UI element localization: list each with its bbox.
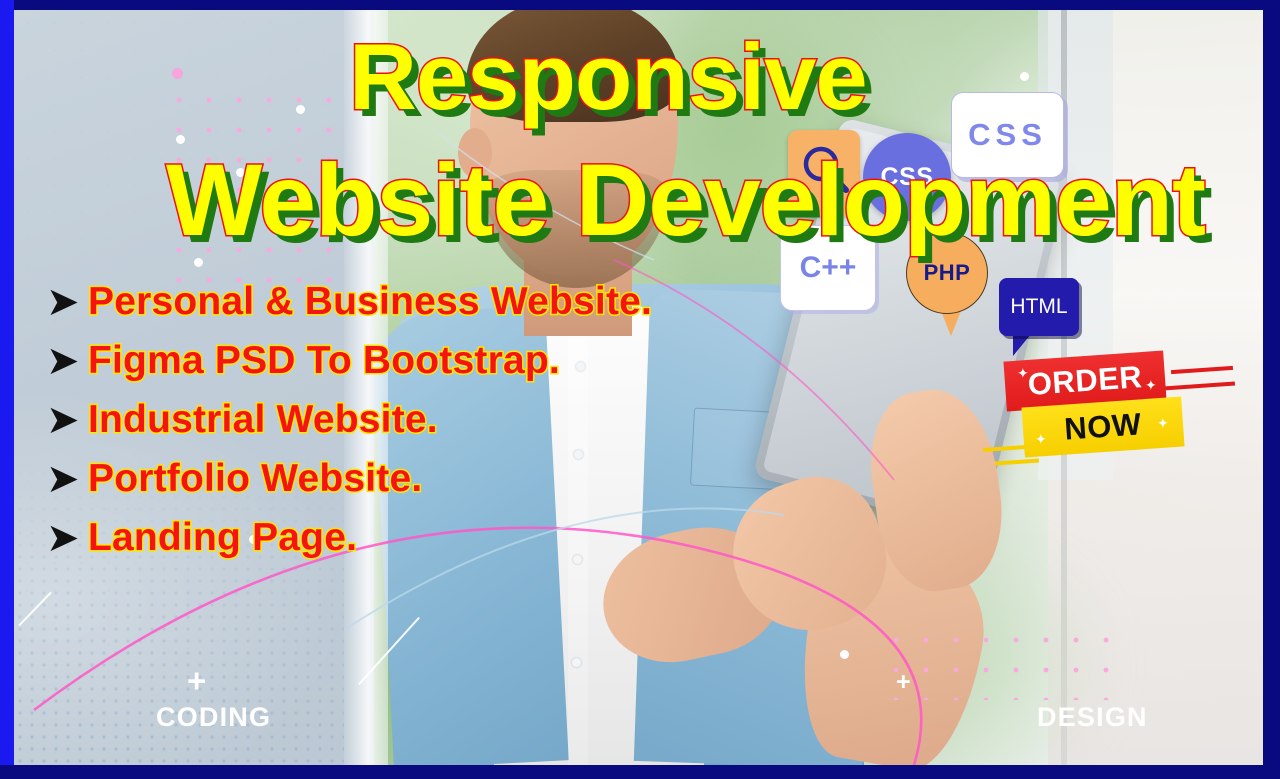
plus-icon-left: + <box>187 664 206 697</box>
frame-border-right <box>1263 0 1280 779</box>
bullet-label: Figma PSD To Bootstrap. <box>88 339 560 383</box>
now-label: NOW <box>1063 406 1143 447</box>
arrow-bullet-icon: ➤ <box>36 400 88 440</box>
list-item: ➤ Figma PSD To Bootstrap. <box>36 331 936 390</box>
feature-bullet-list: ➤ Personal & Business Website. ➤ Figma P… <box>36 272 936 567</box>
html-badge[interactable]: HTML <box>999 278 1079 336</box>
list-item: ➤ Personal & Business Website. <box>36 272 936 331</box>
arrow-bullet-icon: ➤ <box>36 341 88 381</box>
order-label: ORDER <box>1027 359 1144 403</box>
artboard: + CODING + DESIGN CSS CSS C++ PHP HTML <box>14 10 1263 765</box>
bullet-label: Industrial Website. <box>88 398 438 442</box>
arrow-bullet-icon: ➤ <box>36 518 88 558</box>
sparkle-icon: ✦ <box>1035 432 1047 446</box>
html-label: HTML <box>1010 295 1067 319</box>
headline-line-2: Website Development <box>166 152 1205 249</box>
accent-dot-white <box>840 650 849 659</box>
accent-dot-white <box>296 105 305 114</box>
speed-line <box>995 458 1039 465</box>
bullet-label: Personal & Business Website. <box>88 280 652 324</box>
sparkle-icon: ✦ <box>1145 378 1157 392</box>
speed-line <box>1171 366 1233 374</box>
frame-border-bottom <box>0 765 1280 779</box>
arrow-bullet-icon: ➤ <box>36 282 88 322</box>
accent-dot-white <box>1020 72 1029 81</box>
list-item: ➤ Industrial Website. <box>36 390 936 449</box>
order-now-cta[interactable]: ORDER NOW ✦ ✦ ✦ ✦ <box>999 350 1229 470</box>
label-design: DESIGN <box>1037 702 1148 733</box>
promo-banner: + CODING + DESIGN CSS CSS C++ PHP HTML <box>0 0 1280 779</box>
frame-border-top <box>0 0 1280 10</box>
frame-border-left <box>0 0 14 779</box>
list-item: ➤ Landing Page. <box>36 508 936 567</box>
list-item: ➤ Portfolio Website. <box>36 449 936 508</box>
arrow-bullet-icon: ➤ <box>36 459 88 499</box>
bullet-label: Landing Page. <box>88 516 357 560</box>
headline-line-1: Responsive <box>349 32 867 121</box>
plus-icon-right: + <box>896 670 911 695</box>
bullet-label: Portfolio Website. <box>88 457 422 501</box>
label-coding: CODING <box>156 702 271 733</box>
shirt-button <box>572 658 581 667</box>
accent-dot <box>172 68 183 79</box>
pink-dot-grid-bottom-right <box>881 625 1111 700</box>
sparkle-icon: ✦ <box>1157 416 1169 430</box>
sparkle-icon: ✦ <box>1017 366 1029 380</box>
accent-dot-white <box>194 258 203 267</box>
speed-line <box>1163 381 1235 390</box>
